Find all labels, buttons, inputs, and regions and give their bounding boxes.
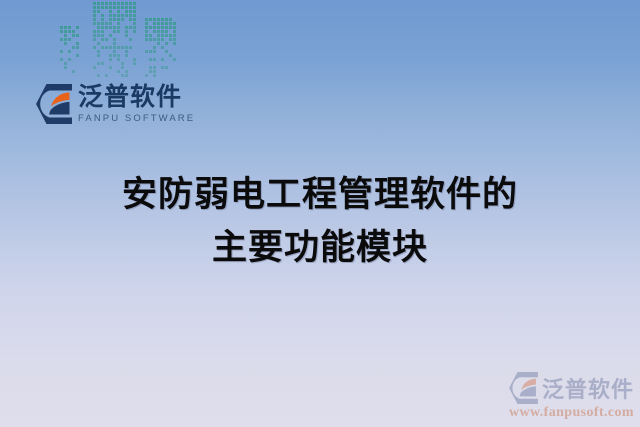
page-title-line-1: 安防弱电工程管理软件的 xyxy=(0,168,640,221)
fanpu-logo-icon xyxy=(36,84,72,124)
watermark-logo-row: 泛普软件 xyxy=(509,372,634,404)
promo-banner: 泛普软件 FANPU SOFTWARE 安防弱电工程管理软件的 主要功能模块 泛… xyxy=(0,0,640,427)
brand-logo: 泛普软件 FANPU SOFTWARE xyxy=(36,84,195,124)
watermark-url: www.fanpusoft.com xyxy=(509,405,634,421)
pixel-skyline-icon xyxy=(55,0,180,80)
fanpu-logo-icon xyxy=(509,372,538,404)
brand-logo-text: 泛普软件 FANPU SOFTWARE xyxy=(78,84,195,124)
brand-name-en: FANPU SOFTWARE xyxy=(78,113,195,124)
watermark-brand-name: 泛普软件 xyxy=(542,372,634,404)
page-title: 安防弱电工程管理软件的 主要功能模块 xyxy=(0,168,640,274)
watermark: 泛普软件 www.fanpusoft.com xyxy=(509,372,634,421)
brand-name-cn: 泛普软件 xyxy=(78,84,195,110)
page-title-line-2: 主要功能模块 xyxy=(0,221,640,274)
